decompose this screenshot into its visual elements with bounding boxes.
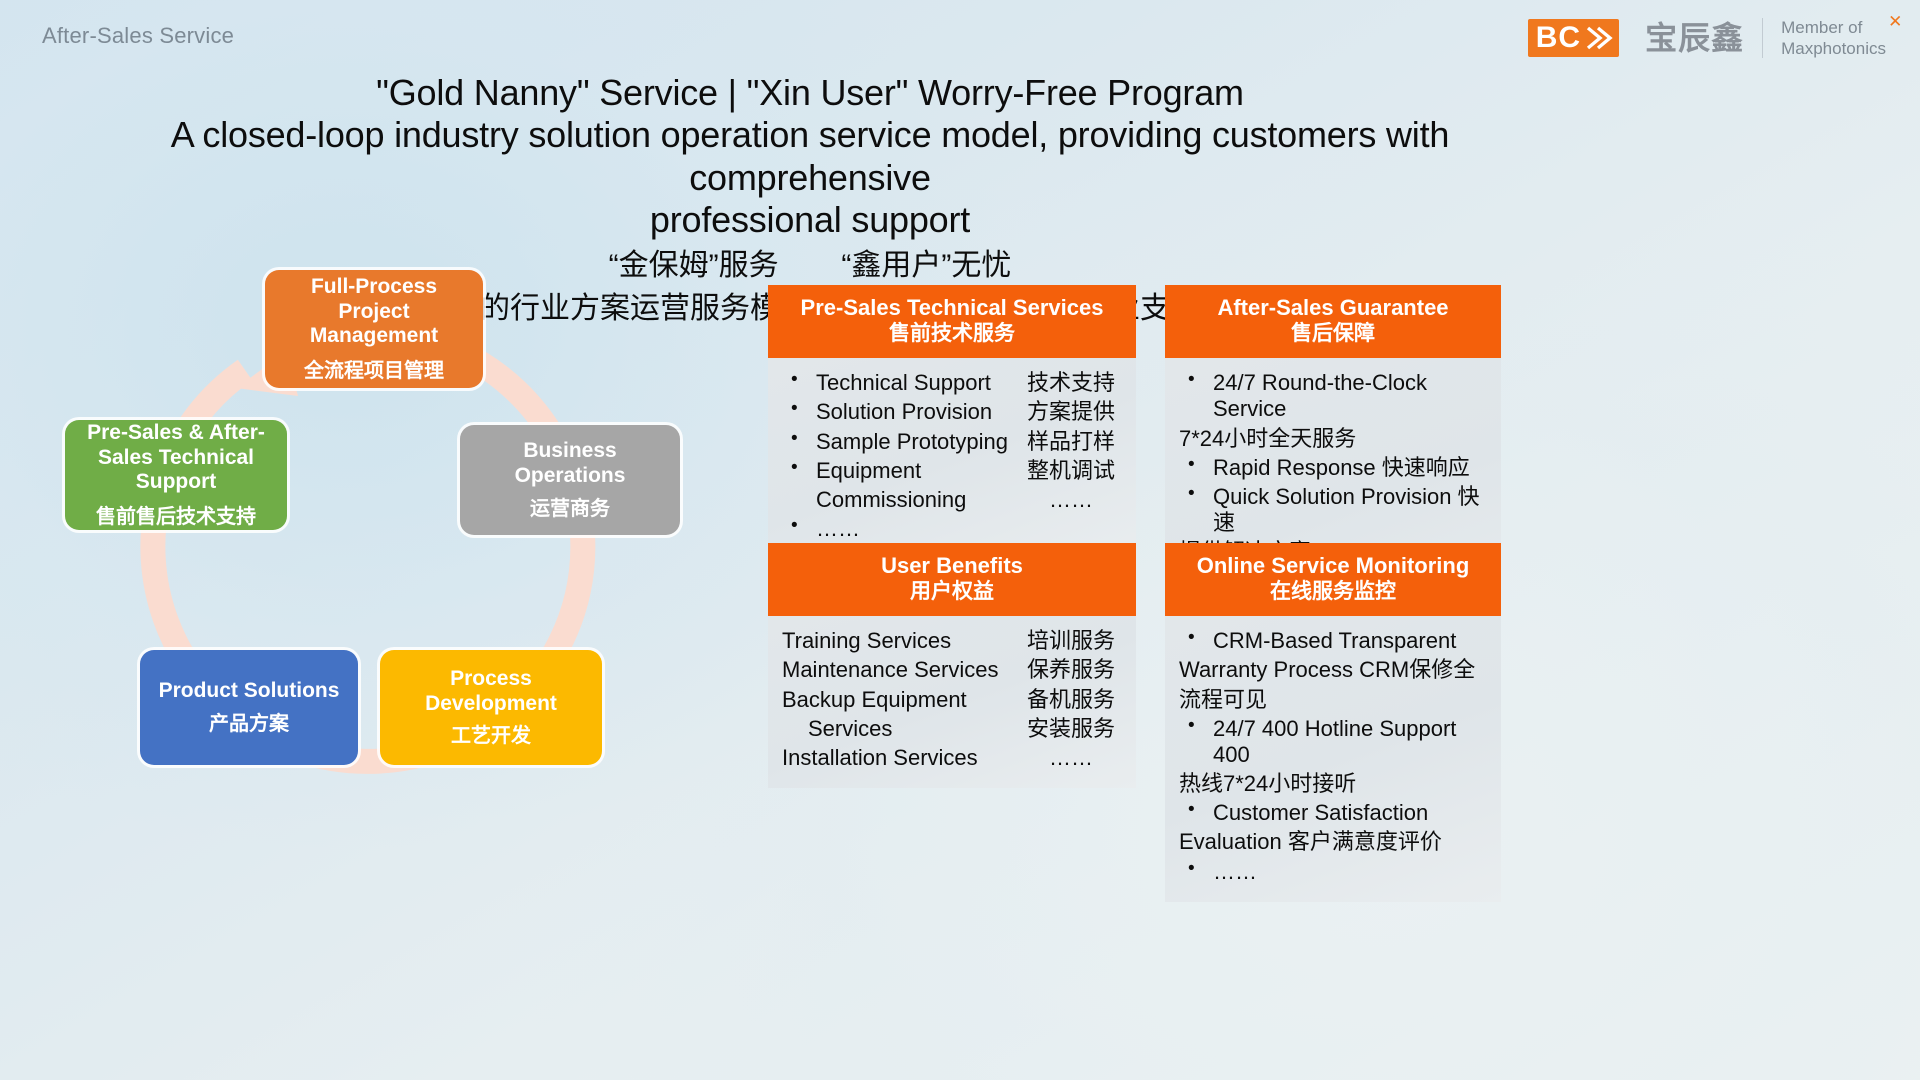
list-item-continuation: Services [782, 716, 1027, 742]
brand-logo: BC 宝辰鑫 Member of ✕ Maxphotonics [1528, 12, 1886, 64]
node-label-en: Product Solutions [159, 679, 340, 704]
list-item-continuation: Evaluation 客户满意度评价 [1179, 829, 1487, 855]
card-header: Pre-Sales Technical Services 售前技术服务 [768, 285, 1136, 358]
cycle-arrow-icon [40, 300, 780, 900]
node-label-en: Pre-Sales & After-Sales Technical Suppor… [75, 421, 277, 495]
list-item-cn: 备机服务 [1027, 687, 1122, 713]
list-item: Quick Solution Provision 快速 [1179, 484, 1487, 536]
member-of-label: Member of [1781, 18, 1862, 37]
card-items-chinese: 培训服务 保养服务 备机服务 安装服务 …… [1027, 628, 1122, 774]
card-items-english: Training Services Maintenance Services B… [782, 628, 1027, 774]
list-item-cn: 整机调试 [1027, 458, 1122, 484]
card-body: Training Services Maintenance Services B… [768, 616, 1136, 788]
title-en-line3: professional support [60, 199, 1560, 241]
logo-divider [1762, 18, 1763, 58]
node-label-cn: 全流程项目管理 [304, 359, 444, 383]
bcx-chinese-name: 宝辰鑫 [1645, 22, 1744, 54]
card-title-en: User Benefits [776, 553, 1128, 578]
card-header: After-Sales Guarantee 售后保障 [1165, 285, 1501, 358]
list-item: Maintenance Services [782, 657, 1027, 683]
list-item: Customer Satisfaction [1179, 800, 1487, 826]
list-item-cn: …… [1027, 745, 1122, 771]
list-item: Rapid Response 快速响应 [1179, 455, 1487, 481]
card-title-cn: 用户权益 [776, 579, 1128, 604]
card-title-en: Online Service Monitoring [1173, 553, 1493, 578]
title-en-line2: A closed-loop industry solution operatio… [60, 114, 1560, 199]
card-online-service-monitoring[interactable]: Online Service Monitoring 在线服务监控 CRM-Bas… [1165, 543, 1501, 902]
card-items-chinese: 技术支持 方案提供 样品打样 整机调试 …… [1027, 370, 1122, 516]
member-of-block: Member of ✕ Maxphotonics [1781, 17, 1886, 60]
list-item: Installation Services [782, 745, 1027, 771]
title-en-line1: "Gold Nanny" Service | "Xin User" Worry-… [60, 72, 1560, 114]
list-item-continuation: Warranty Process CRM保修全 [1179, 657, 1487, 683]
list-item-cn: 样品打样 [1027, 429, 1122, 455]
list-item: Training Services [782, 628, 1027, 654]
node-label-en: Process Development [390, 667, 592, 717]
list-item: Sample Prototyping [782, 429, 1027, 455]
node-label-cn: 产品方案 [209, 712, 289, 736]
node-label-cn: 运营商务 [530, 497, 610, 521]
card-title-cn: 在线服务监控 [1173, 579, 1493, 604]
list-item-cn: 培训服务 [1027, 628, 1122, 654]
card-body: CRM-Based Transparent Warranty Process C… [1165, 616, 1501, 902]
double-chevron-icon [1583, 23, 1613, 53]
bcx-logo-mark: BC [1528, 19, 1619, 57]
title-cn-line1-part-b: “鑫用户”无忧 [841, 249, 1011, 282]
node-pre-sales-after-sales-technical-support[interactable]: Pre-Sales & After-Sales Technical Suppor… [65, 420, 287, 530]
list-item: …… [782, 516, 1027, 542]
list-item: Equipment [782, 458, 1027, 484]
x-mark-icon: ✕ [1888, 11, 1902, 32]
node-process-development[interactable]: Process Development 工艺开发 [380, 650, 602, 765]
title-cn-line1-part-a: “金保姆”服务 [609, 249, 779, 282]
node-label-en: Full-Process Project Management [275, 275, 473, 349]
list-item-continuation: Commissioning [782, 487, 1027, 513]
node-label-cn: 工艺开发 [451, 724, 531, 748]
card-header: Online Service Monitoring 在线服务监控 [1165, 543, 1501, 616]
list-item: 24/7 Round-the-Clock Service [1179, 370, 1487, 422]
card-title-cn: 售前技术服务 [776, 321, 1128, 346]
node-product-solutions[interactable]: Product Solutions 产品方案 [140, 650, 358, 765]
card-pre-sales-technical-services[interactable]: Pre-Sales Technical Services 售前技术服务 Tech… [768, 285, 1136, 559]
list-item: CRM-Based Transparent [1179, 628, 1487, 654]
list-item: Backup Equipment [782, 687, 1027, 713]
slide-header: After-Sales Service BC 宝辰鑫 Member of ✕ M… [0, 0, 1920, 78]
list-item-cn: 技术支持 [1027, 370, 1122, 396]
list-item-continuation: 7*24小时全天服务 [1179, 426, 1487, 452]
list-item-cn: 方案提供 [1027, 399, 1122, 425]
node-full-process-project-management[interactable]: Full-Process Project Management 全流程项目管理 [265, 270, 483, 388]
card-header: User Benefits 用户权益 [768, 543, 1136, 616]
breadcrumb: After-Sales Service [42, 23, 234, 49]
maxphotonics-label: Maxphotonics [1781, 38, 1886, 59]
node-business-operations[interactable]: Business Operations 运营商务 [460, 425, 680, 535]
card-body: Technical Support Solution Provision Sam… [768, 358, 1136, 559]
list-item: …… [1179, 859, 1487, 885]
card-items-english: Technical Support Solution Provision Sam… [782, 370, 1027, 545]
list-item-continuation: 热线7*24小时接听 [1179, 771, 1487, 797]
cycle-diagram: Full-Process Project Management 全流程项目管理 … [40, 300, 780, 900]
list-item-cn: 安装服务 [1027, 716, 1122, 742]
list-item-cn: 保养服务 [1027, 657, 1122, 683]
card-title-en: Pre-Sales Technical Services [776, 295, 1128, 320]
list-item: 24/7 400 Hotline Support 400 [1179, 716, 1487, 768]
card-title-en: After-Sales Guarantee [1173, 295, 1493, 320]
list-item: Solution Provision [782, 399, 1027, 425]
card-title-cn: 售后保障 [1173, 321, 1493, 346]
bcx-logo-text: BC [1536, 23, 1581, 53]
list-item-continuation: 流程可见 [1179, 687, 1487, 713]
list-item: Technical Support [782, 370, 1027, 396]
list-item-cn: …… [1027, 487, 1122, 513]
node-label-en: Business Operations [470, 439, 670, 489]
card-user-benefits[interactable]: User Benefits 用户权益 Training Services Mai… [768, 543, 1136, 788]
node-label-cn: 售前售后技术支持 [96, 505, 256, 529]
